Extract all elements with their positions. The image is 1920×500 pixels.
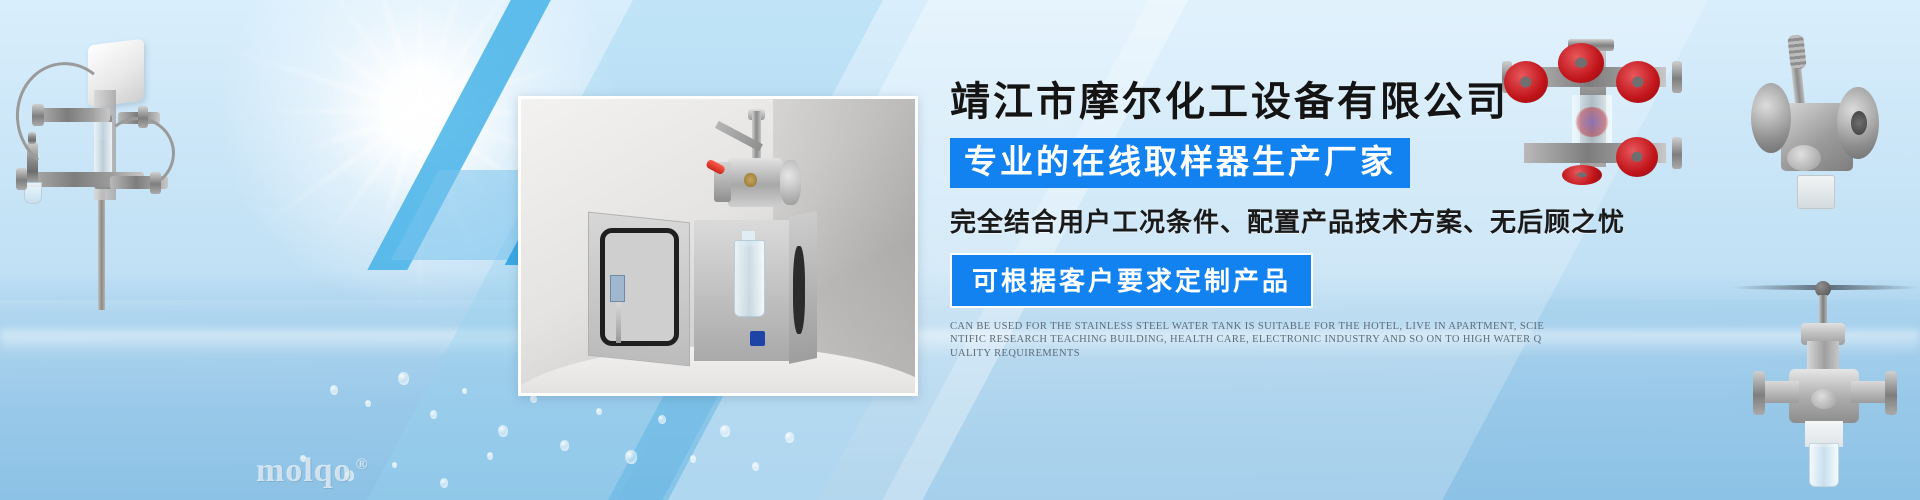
sun-ray <box>232 49 420 113</box>
english-line-3: UALITY REQUIREMENTS <box>950 347 1650 360</box>
sun-ray <box>418 111 496 209</box>
tagline-text: 专业的在线取样器生产厂家 <box>964 143 1396 180</box>
water-droplet <box>462 388 467 394</box>
tagline-highlight-bar: 专业的在线取样器生产厂家 <box>950 138 1410 188</box>
valve-lever-grip <box>706 158 727 175</box>
water-droplet <box>785 432 794 443</box>
lever-valve-image <box>1715 25 1915 225</box>
water-droplet <box>720 425 730 437</box>
bottom-valve-image <box>1745 285 1905 495</box>
valve-lever-knurl <box>1787 34 1806 69</box>
lever-valve-flange-left <box>1751 83 1791 153</box>
valve-flange-right <box>780 160 801 205</box>
water-droplet <box>530 395 537 403</box>
promo-banner: 靖江市摩尔化工设备有限公司 专业的在线取样器生产厂家 完全结合用户工况条件、配置… <box>0 0 1920 500</box>
blue-cap <box>750 331 766 346</box>
sun-ray <box>419 36 524 114</box>
cabinet-latch <box>610 275 626 301</box>
water-droplet <box>398 372 409 385</box>
brand-watermark: molqo® <box>256 452 369 490</box>
custom-product-bar: 可根据客户要求定制产品 <box>950 253 1313 308</box>
rig-flange-2 <box>138 106 148 128</box>
sample-bottle <box>734 240 766 316</box>
cabinet-key <box>616 302 622 343</box>
sun-ray <box>260 110 420 113</box>
sun-ray <box>325 111 421 241</box>
sun-ray <box>418 0 423 113</box>
sun-ray <box>380 112 422 230</box>
lever-valve-badge <box>1787 145 1821 171</box>
sun-ray <box>261 110 421 228</box>
banner-text-block: 靖江市摩尔化工设备有限公司 专业的在线取样器生产厂家 完全结合用户工况条件、配置… <box>950 80 1710 360</box>
water-droplet <box>330 385 338 395</box>
rig-flange-4 <box>150 172 161 194</box>
subline-text: 完全结合用户工况条件、配置产品技术方案、无后顾之忧 <box>950 202 1710 239</box>
cabinet-handle <box>793 246 806 334</box>
sun-ray <box>419 0 472 112</box>
valve-stem <box>752 111 761 162</box>
watermark-text: molqo <box>256 452 352 489</box>
water-droplet <box>487 452 493 460</box>
water-droplet <box>392 462 397 468</box>
bottom-valve-flange-right <box>1885 371 1897 415</box>
valve-badge <box>744 173 756 186</box>
registered-trademark-icon: ® <box>356 456 369 473</box>
sun-ray <box>324 0 421 112</box>
water-droplet <box>658 415 666 424</box>
custom-product-label: 可根据客户要求定制产品 <box>972 266 1291 296</box>
water-droplet <box>365 400 371 407</box>
water-droplet <box>498 425 508 437</box>
left-sampler-rig-image <box>10 20 190 320</box>
lever-valve-bore <box>1851 111 1867 135</box>
sun-ray <box>419 111 476 260</box>
bottom-valve-pipe-left <box>1759 381 1799 403</box>
water-droplet <box>430 410 437 419</box>
photo-content <box>521 99 915 393</box>
bottom-valve-badge <box>1811 389 1837 409</box>
sun-ray <box>302 110 421 153</box>
water-droplet <box>560 440 569 451</box>
lever-valve-sample-bottle <box>1797 175 1835 209</box>
english-line-1: CAN BE USED FOR THE STAINLESS STEEL WATE… <box>950 320 1650 333</box>
water-droplet <box>596 408 602 415</box>
water-droplet <box>752 462 759 471</box>
water-droplet <box>440 478 448 488</box>
bottom-valve-flange-left <box>1753 371 1765 415</box>
handwheel-top <box>1558 43 1604 83</box>
water-droplet <box>690 455 696 463</box>
sun-ray <box>357 0 421 112</box>
valve-assembly <box>714 111 801 223</box>
english-line-2: NTIFIC RESEARCH TEACHING BUILDING, HEALT… <box>950 333 1650 346</box>
bottom-valve-sample-bottle <box>1809 443 1839 487</box>
sun-ray <box>318 38 421 115</box>
rig-flange-1 <box>32 104 44 126</box>
rig-flange-3 <box>16 168 27 190</box>
center-product-photo <box>518 96 918 396</box>
company-name: 靖江市摩尔化工设备有限公司 <box>950 80 1710 124</box>
sun-ray <box>419 112 422 307</box>
water-droplet <box>625 450 637 464</box>
english-description: CAN BE USED FOR THE STAINLESS STEEL WATE… <box>950 320 1650 360</box>
